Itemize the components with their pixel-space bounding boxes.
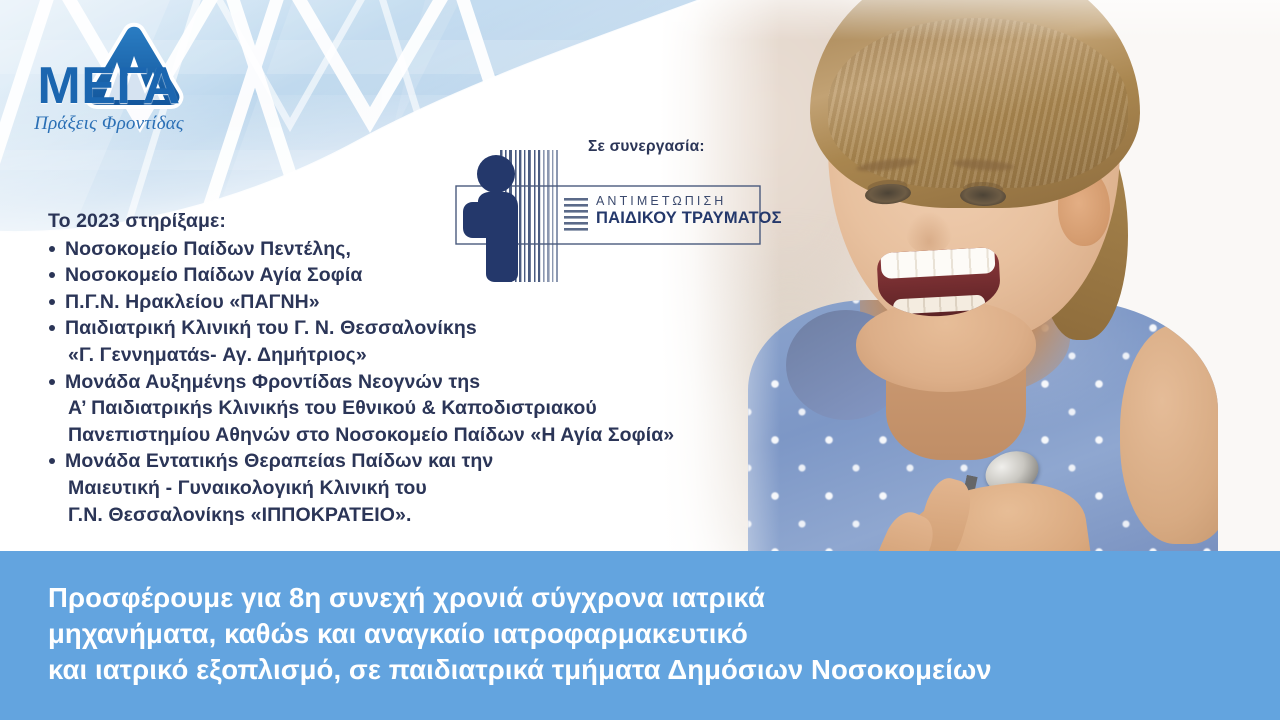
bullet-icon [49,379,55,385]
bullet-icon [49,325,55,331]
list-item: Παιδιατρική Κλινική του Γ. Ν. Θεσσαλονίκ… [48,315,748,368]
poster-root: ΜΕΓΑ Πράξεις Φροντίδας Σε συνεργασία: [0,0,1280,720]
list-item-line: Α’ Παιδιατρικήs Κλινικήs του Εθνικού & Κ… [65,395,748,422]
partner-logo-line1: ΑΝΤΙΜΕΤΩΠΙΣΗ [596,194,766,208]
list-item-line: Π.Γ.Ν. Ηρακλείου «ΠΑΓΝΗ» [65,291,320,313]
bullet-icon [49,458,55,464]
bullet-icon [49,246,55,252]
support-section: Το 2023 στηρίξαμε: Νοσοκομείο Παίδων Πεν… [48,208,748,528]
girl-nose [906,212,952,254]
banner-line: και ιατρικό εξοπλισμό, σε παιδιατρικά τμ… [48,652,992,688]
bottom-banner: Προσφέρουμε για 8η συνεχή χρονιά σύγχρον… [0,551,1280,720]
list-item-line: Πανεπιστημίου Αθηνών στο Νοσοκομείο Παίδ… [65,422,748,449]
photo-top-fade [660,0,1280,40]
list-item-line: Μαιευτική - Γυναικολογική Κλινική του [65,475,748,502]
bullet-icon [49,299,55,305]
banner-line: Προσφέρουμε για 8η συνεχή χρονιά σύγχρον… [48,580,992,616]
list-item-line: Παιδιατρική Κλινική του Γ. Ν. Θεσσαλονίκ… [65,317,477,339]
list-item-line: Μονάδα Εντατικήs Θεραπείαs Παίδων και τη… [65,450,493,472]
list-item: Π.Γ.Ν. Ηρακλείου «ΠΑΓΝΗ» [48,289,748,316]
mega-wordmark: ΜΕΓΑ [24,56,194,116]
girl-arm-right [1120,324,1218,544]
list-item: Μονάδα Εντατικήs Θεραπείαs Παίδων και τη… [48,448,748,528]
support-list: Νοσοκομείο Παίδων Πεντέλης, Νοσοκομείο Π… [48,236,748,529]
banner-message: Προσφέρουμε για 8η συνεχή χρονιά σύγχρον… [48,580,992,688]
list-item: Νοσοκομείο Παίδων Πεντέλης, [48,236,748,263]
bullet-icon [49,272,55,278]
list-item-line: Γ.Ν. Θεσσαλονίκηs «ΙΠΠΟΚΡΑΤΕΙΟ». [65,502,748,529]
mega-tagline: Πράξεις Φροντίδας [24,113,194,135]
list-item: Νοσοκομείο Παίδων Αγία Σοφία [48,262,748,289]
girl-smiling-mouth [876,247,1001,319]
list-item-line: «Γ. Γεννηματάs- Αγ. Δημήτριος» [65,342,748,369]
support-title: Το 2023 στηρίξαμε: [48,208,748,235]
list-item-line: Μονάδα Αυξημένηs Φροντίδαs Νεογνών τηs [65,371,480,393]
list-item-line: Νοσοκομείο Παίδων Πεντέλης, [65,238,351,260]
teeth-upper [880,247,995,279]
banner-line: μηχανήματα, καθώs και αναγκαίο ιατροφαρμ… [48,616,992,652]
list-item-line: Νοσοκομείο Παίδων Αγία Σοφία [65,264,362,286]
list-item: Μονάδα Αυξημένηs Φροντίδαs Νεογνών τηs Α… [48,369,748,449]
